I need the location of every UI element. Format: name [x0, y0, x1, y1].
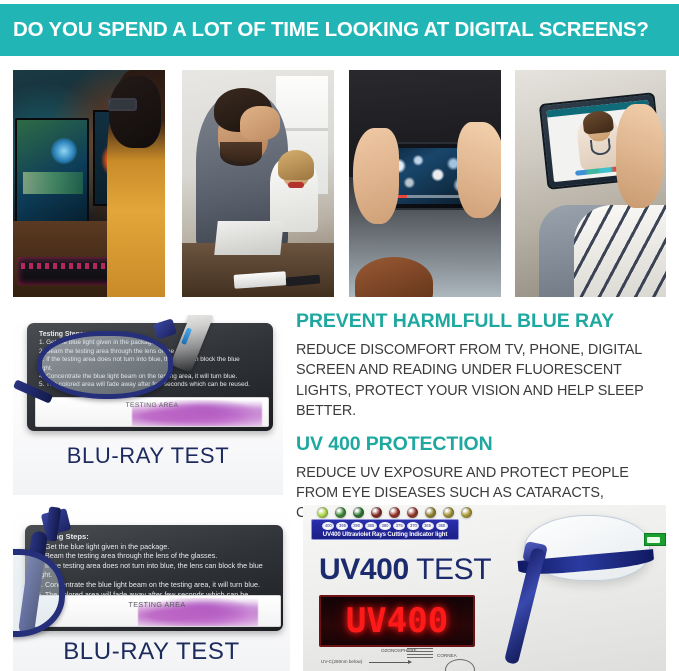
laptop [214, 221, 284, 255]
doctor-hair [582, 110, 614, 135]
uv-indicator-chips: 400395390385380375370365360 [314, 522, 456, 530]
uv-indicator-dot [407, 507, 418, 518]
blue-rgb-glow [51, 138, 77, 164]
gamer-head [109, 76, 161, 148]
eyeglasses [107, 98, 137, 111]
cornea-label: CORNEA [437, 653, 457, 658]
uv-indicator-dot [443, 507, 454, 518]
uv-indicator-dot [371, 507, 382, 518]
green-indicator-tag [644, 533, 666, 546]
uv400-test-card: 400395390385380375370365360 UV400 Ultrav… [303, 505, 666, 671]
monitor-left [15, 118, 89, 228]
feature-text-column: PREVENT HARMLFULL BLUE RAY REDUCE DISCOM… [296, 310, 671, 524]
spacer [296, 422, 671, 433]
uvc-label: UV-C(280nm below) [321, 659, 362, 664]
photo-tired-man-rubbing-eyes-at-office-desk [182, 70, 334, 297]
rgb-keyboard [17, 257, 121, 285]
photo-hands-holding-smartphone-watching-video [349, 70, 501, 297]
photo-strip [0, 70, 679, 297]
testing-step-4: 4. Concentrate the blue light beam on th… [37, 580, 260, 589]
spacer [296, 456, 671, 463]
photo-person-gaming-at-computer [13, 70, 165, 297]
uv-indicator-dot [317, 507, 328, 518]
testing-area: TESTING AREA [35, 397, 269, 427]
glasses-lens [37, 331, 173, 399]
bluray-scene: Testing Steps: 1. Get the blue light giv… [13, 315, 283, 495]
spacer [296, 333, 671, 340]
uv-led-readout: UV400 [346, 604, 448, 638]
hand-holding-tablet [616, 104, 664, 208]
testing-step-3: 3. If the testing area does not turn int… [37, 561, 263, 580]
testing-area: TESTING AREA [33, 595, 281, 627]
testing-step-1: 1. Get the blue light given in the packa… [37, 542, 169, 551]
uv-indicator-chip: 370 [407, 522, 419, 530]
uv-indicator-chip: 365 [422, 522, 434, 530]
man-beard [220, 142, 262, 166]
bluray-test-card-top: Testing Steps: 1. Get the blue light giv… [13, 315, 283, 495]
bluray-scene: Testing Steps: 1. Get the blue light giv… [13, 505, 290, 671]
bluray-test-card-bottom: Testing Steps: 1. Get the blue light giv… [13, 505, 290, 671]
uv-indicator-chip: 395 [336, 522, 348, 530]
left-hand [353, 128, 399, 224]
uv-indicator-chip: 375 [393, 522, 405, 530]
feature-heading-blue-ray: PREVENT HARMLFULL BLUE RAY [296, 310, 671, 333]
ozone-hatching [407, 648, 433, 660]
eye-outline [445, 659, 475, 671]
feature-heading-uv400: UV 400 PROTECTION [296, 433, 671, 456]
woman-necklace [288, 182, 304, 188]
testing-area-label: TESTING AREA [34, 600, 280, 609]
uv400-glasses [466, 505, 666, 619]
man-hand-on-forehead [240, 106, 280, 140]
bluray-test-caption: BLU-RAY TEST [13, 638, 290, 666]
photo-person-holding-tablet-video-call-with-doctor [515, 70, 666, 297]
uv-indicator-chip: 400 [322, 522, 334, 530]
uv-indicator-dot [389, 507, 400, 518]
uv-indicator-dot [425, 507, 436, 518]
uv-led-display: UV400 [319, 595, 475, 647]
uv-indicator-chip: 390 [351, 522, 363, 530]
uv400-title-bold: UV400 [319, 553, 409, 586]
uv-indicator-chip: 385 [365, 522, 377, 530]
features-section: Testing Steps: 1. Get the blue light giv… [0, 310, 679, 505]
uv400-scene: 400395390385380375370365360 UV400 Ultrav… [303, 505, 666, 671]
uv-indicator-strip-label: UV400 Ultraviolet Rays Cutting Indicator… [314, 531, 456, 538]
right-hand [457, 122, 501, 218]
uv-indicator-chip: 380 [379, 522, 391, 530]
page-title: DO YOU SPEND A LOT OF TIME LOOKING AT DI… [0, 18, 649, 42]
uv-indicator-dots [317, 507, 472, 518]
bluray-test-caption: BLU-RAY TEST [13, 443, 283, 469]
woman-hair [278, 150, 314, 180]
header-banner: DO YOU SPEND A LOT OF TIME LOOKING AT DI… [0, 4, 679, 56]
uv-indicator-chip: 360 [436, 522, 448, 530]
uv-eye-diagram: OZONOSPHERE CORNEA UV-C(280nm below) [321, 647, 501, 671]
bottom-image-row: Testing Steps: 1. Get the blue light giv… [0, 505, 679, 671]
feature-body-blue-ray: REDUCE DISCOMFORT FROM TV, PHONE, DIGITA… [296, 340, 671, 422]
uv-ray-arrow [369, 662, 411, 663]
testing-step-2: 2. Beam the testing area through the len… [37, 551, 217, 560]
testing-area-label: TESTING AREA [36, 402, 268, 409]
striped-shirt [574, 205, 666, 297]
uv-indicator-dot [353, 507, 364, 518]
uv-indicator-dot [335, 507, 346, 518]
uv-indicator-strip: 400395390385380375370365360 UV400 Ultrav… [311, 519, 459, 540]
